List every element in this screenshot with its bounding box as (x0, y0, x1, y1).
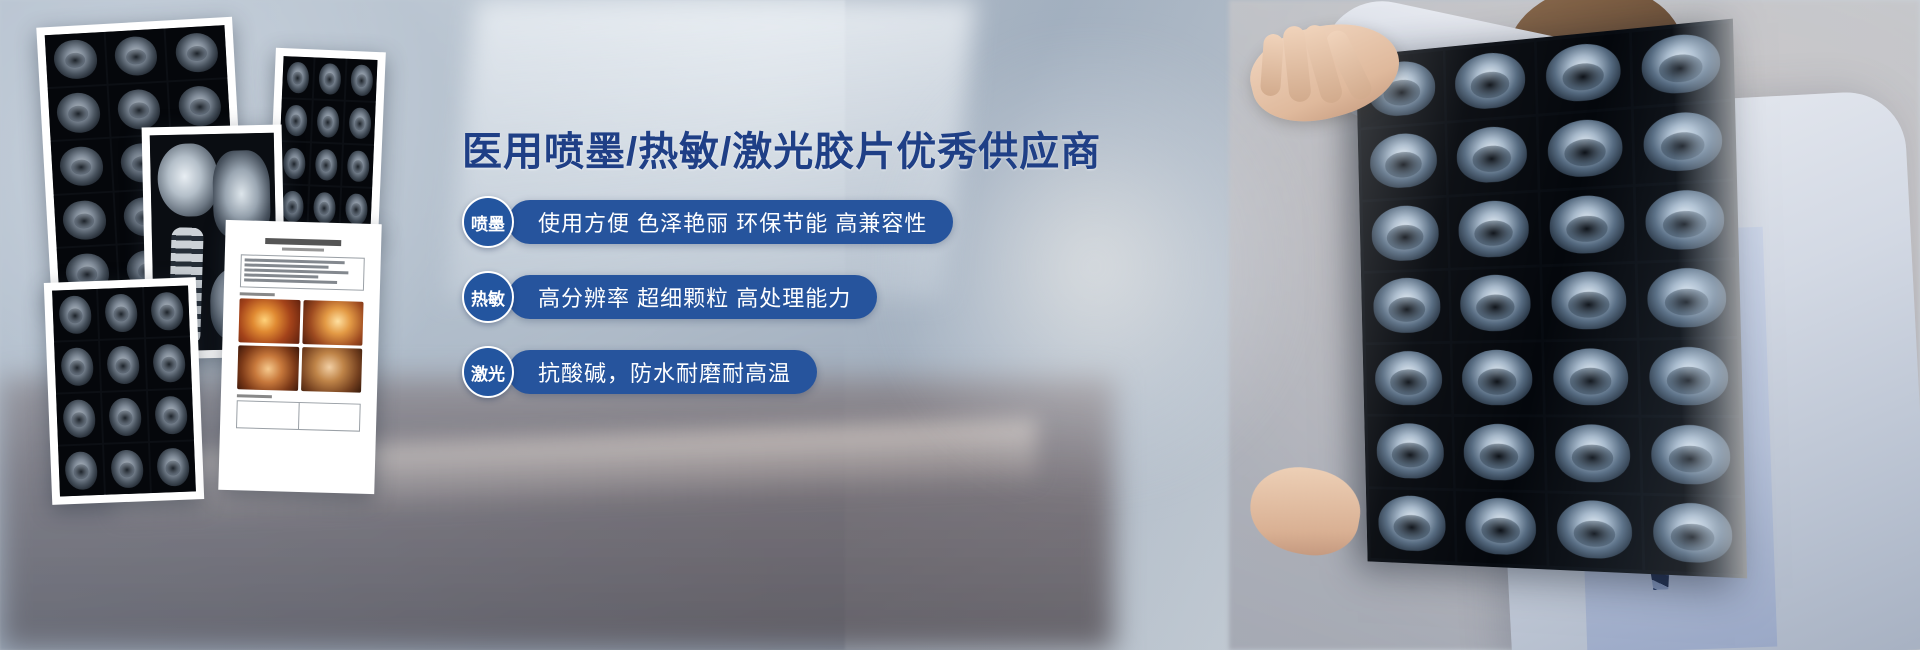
doctor-photo (1160, 0, 1920, 650)
film-sheet-brain-mri-small (268, 48, 386, 238)
mri-slice (1449, 192, 1539, 268)
report-section-label (237, 394, 272, 398)
mri-tile (278, 142, 310, 184)
mri-slice-grid (1359, 23, 1743, 574)
mri-tile (312, 100, 344, 142)
mri-slice (1366, 344, 1452, 415)
mri-slice (1452, 342, 1542, 414)
mri-tile (54, 193, 115, 248)
mri-slice (1540, 187, 1635, 265)
mri-slice (1635, 181, 1735, 261)
fundus-image (237, 345, 299, 391)
mri-slice (1542, 264, 1637, 340)
mri-slice (1637, 260, 1737, 338)
fundus-image (301, 347, 363, 393)
mri-tile (342, 145, 374, 187)
report-section-label (240, 292, 275, 296)
feature-badge-laser: 激光 (462, 346, 514, 398)
feature-text-thermal: 高分辨率 超细颗粒 高处理能力 (538, 281, 851, 313)
film-sheet-printed-report (218, 220, 381, 494)
mri-tile (45, 32, 106, 87)
fundus-image (302, 300, 364, 346)
feature-row-laser: 激光 抗酸碱，防水耐磨耐高温 (462, 346, 1102, 398)
mri-slice (1451, 267, 1541, 341)
mri-slice (1643, 495, 1743, 574)
report-table-cell (237, 401, 299, 429)
report-subtitle-bar (282, 247, 324, 251)
mri-tile (98, 287, 144, 339)
mri-tile (314, 57, 346, 99)
mri-tile (105, 29, 166, 84)
mri-slice (1544, 341, 1639, 415)
report-text-line (244, 273, 318, 278)
mri-slice (1547, 493, 1642, 570)
feature-pill-thermal: 高分辨率 超细颗粒 高处理能力 (508, 275, 877, 319)
mri-tile (58, 445, 104, 497)
report-table-cell (298, 403, 359, 431)
mri-slice (1367, 417, 1453, 488)
mri-slice (1363, 197, 1449, 271)
skull-xray (157, 143, 218, 218)
mri-tile (150, 441, 196, 493)
mri-tile (280, 99, 312, 141)
mri-slice (1538, 110, 1633, 189)
mri-tile (166, 25, 227, 80)
mri-slice (1641, 418, 1741, 495)
held-mri-film-sheet (1356, 19, 1747, 579)
mri-tile (310, 143, 342, 185)
mri-tile (282, 56, 314, 98)
feature-pill-laser: 抗酸碱，防水耐磨耐高温 (508, 350, 817, 394)
feature-row-inkjet: 喷墨 使用方便 色泽艳丽 环保节能 高兼容性 (462, 196, 1102, 248)
report-image-grid (237, 298, 363, 392)
mri-tile (148, 389, 194, 441)
mri-tile (100, 339, 146, 391)
mri-tile (104, 443, 150, 495)
mri-tile (346, 59, 378, 101)
mri-slice (1364, 271, 1450, 343)
report-text-block (240, 254, 365, 290)
mri-slice (1456, 491, 1546, 566)
mri-tile (144, 285, 190, 337)
mri-slice (1634, 102, 1734, 184)
banner-content: 医用喷墨/热敏/激光胶片优秀供应商 喷墨 使用方便 色泽艳丽 环保节能 高兼容性… (462, 128, 1102, 398)
feature-text-laser: 抗酸碱，防水耐磨耐高温 (538, 356, 791, 388)
mri-tile (48, 85, 109, 140)
film-sheet-brain-mri-grid (44, 277, 204, 505)
mri-slice (1639, 339, 1739, 415)
mri-tile (54, 341, 100, 393)
mri-tile (51, 139, 112, 194)
mri-tile (52, 289, 98, 341)
medical-report-print (226, 228, 373, 486)
mri-slice (1454, 417, 1544, 490)
hero-banner: 医用喷墨/热敏/激光胶片优秀供应商 喷墨 使用方便 色泽艳丽 环保节能 高兼容性… (0, 0, 1920, 650)
film-sample-stack (26, 8, 446, 528)
feature-badge-inkjet: 喷墨 (462, 196, 514, 248)
fundus-image (238, 298, 300, 344)
report-signature-table (236, 400, 361, 431)
feature-list: 喷墨 使用方便 色泽艳丽 环保节能 高兼容性 热敏 高分辨率 超细颗粒 高处理能… (462, 196, 1102, 398)
mri-slice (1447, 117, 1537, 194)
report-text-line (245, 263, 329, 268)
mri-slice (1361, 124, 1447, 199)
mri-slice (1446, 42, 1536, 121)
mri-slice (1545, 418, 1640, 493)
feature-pill-inkjet: 使用方便 色泽艳丽 环保节能 高兼容性 (508, 200, 953, 244)
mri-tile (102, 391, 148, 443)
report-text-line (244, 278, 337, 283)
mri-slice (1632, 23, 1731, 107)
feature-badge-thermal: 热敏 (462, 271, 514, 323)
feature-row-thermal: 热敏 高分辨率 超细颗粒 高处理能力 (462, 271, 1102, 323)
mri-tile (56, 393, 102, 445)
feature-text-inkjet: 使用方便 色泽艳丽 环保节能 高兼容性 (538, 206, 927, 238)
page-title: 医用喷墨/热敏/激光胶片优秀供应商 (462, 128, 1102, 176)
report-title-bar (265, 238, 342, 246)
mri-tile (146, 337, 192, 389)
doctor-lower-hand (1243, 459, 1366, 563)
mri-tile (344, 102, 376, 144)
mri-slice (1369, 489, 1455, 562)
mri-slice (1536, 33, 1630, 114)
